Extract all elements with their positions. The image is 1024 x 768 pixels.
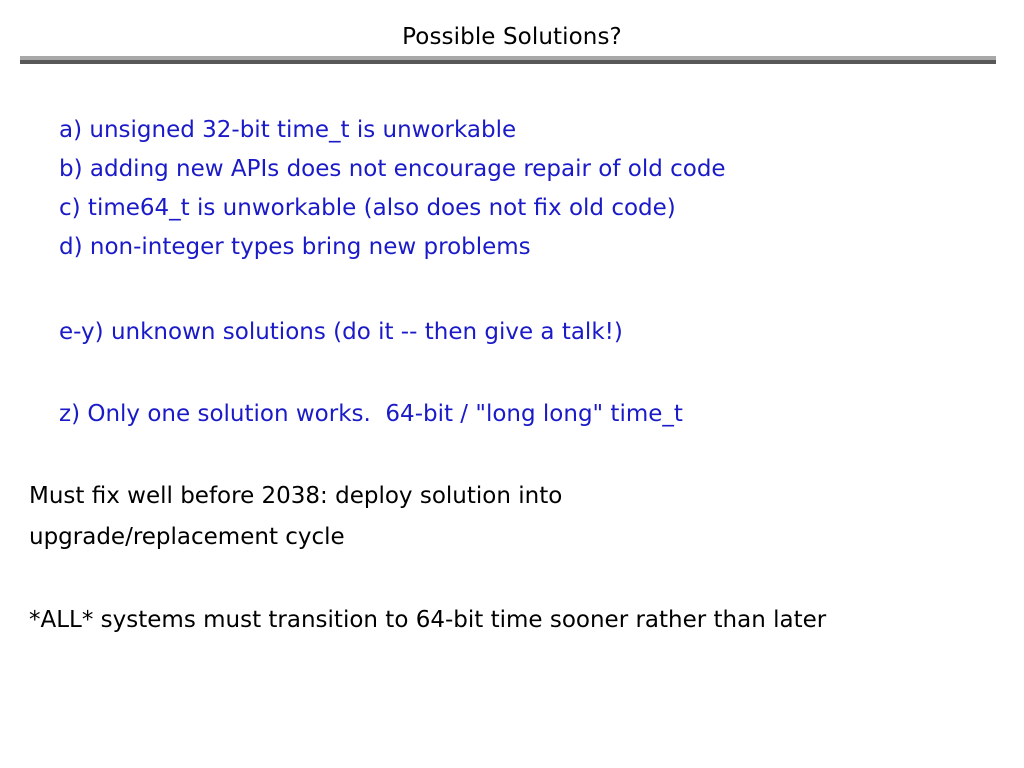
conclusion-line: upgrade/replacement cycle: [29, 517, 999, 558]
list-item: e-y) unknown solutions (do it -- then gi…: [59, 313, 989, 352]
unknown-solutions-block: e-y) unknown solutions (do it -- then gi…: [59, 313, 989, 352]
closing-statement: *ALL* systems must transition to 64-bit …: [29, 600, 1009, 641]
list-item: z) Only one solution works. 64-bit / "lo…: [59, 395, 989, 434]
closing-statement-block: *ALL* systems must transition to 64-bit …: [29, 600, 1009, 641]
slide-canvas: Possible Solutions? a) unsigned 32-bit t…: [0, 0, 1024, 768]
slide-body: a) unsigned 32-bit time_t is unworkable …: [0, 0, 1024, 768]
conclusion-line: Must fix well before 2038: deploy soluti…: [29, 476, 999, 517]
conclusion-paragraph: Must fix well before 2038: deploy soluti…: [29, 476, 999, 558]
list-item: a) unsigned 32-bit time_t is unworkable: [59, 111, 989, 150]
list-item: b) adding new APIs does not encourage re…: [59, 150, 989, 189]
list-item: c) time64_t is unworkable (also does not…: [59, 189, 989, 228]
final-solution-block: z) Only one solution works. 64-bit / "lo…: [59, 395, 989, 434]
list-item: d) non-integer types bring new problems: [59, 228, 989, 267]
options-list: a) unsigned 32-bit time_t is unworkable …: [59, 111, 989, 267]
